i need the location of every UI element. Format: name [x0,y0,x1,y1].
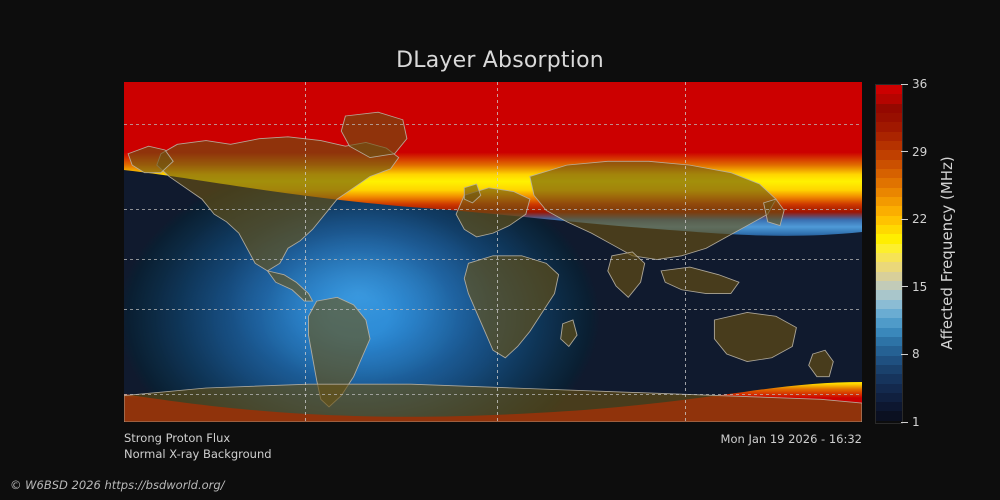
colorbar-tick: 1 [901,416,920,428]
colorbar-segment [876,122,902,131]
colorbar-segment [876,94,902,103]
colorbar-segment [876,309,902,318]
status-xray-background: Normal X-ray Background [124,446,272,462]
colorbar-tick-mark [901,84,908,85]
timestamp: Mon Jan 19 2026 - 16:32 [721,432,862,446]
colorbar-tick-label: 29 [912,146,927,158]
colorbar-segment [876,393,902,402]
colorbar-tick: 15 [901,281,927,293]
colorbar-segment [876,197,902,206]
colorbar-tick-label: 36 [912,78,927,90]
colorbar-segment [876,113,902,122]
status-block: Strong Proton Flux Normal X-ray Backgrou… [124,430,272,462]
colorbar-tick-mark [901,219,908,220]
colorbar-segment [876,365,902,374]
colorbar-segment [876,262,902,271]
colorbar-segment [876,85,902,94]
colorbar-segment [876,104,902,113]
colorbar-tick: 29 [901,146,927,158]
colorbar-segment [876,132,902,141]
colorbar-segment [876,225,902,234]
colorbar-segment [876,384,902,393]
colorbar-segment [876,253,902,262]
colorbar-segment [876,411,902,420]
colorbar-tick-mark [901,354,908,355]
colorbar-tick-label: 1 [912,416,920,428]
colorbar-segment [876,356,902,365]
colorbar-label-text: Affected Frequency (MHz) [938,156,956,350]
colorbar-tick: 22 [901,213,927,225]
colorbar-segment [876,402,902,411]
absorption-map[interactable] [124,82,862,422]
colorbar-segment [876,178,902,187]
colorbar-segment [876,328,902,337]
colorbar-segment [876,160,902,169]
colorbar-segment [876,234,902,243]
colorbar-tick: 8 [901,348,920,360]
colorbar-segment [876,150,902,159]
colorbar-ticks: 1815222936 [901,84,941,422]
colorbar-segment [876,188,902,197]
status-proton-flux: Strong Proton Flux [124,430,272,446]
colorbar-segment [876,300,902,309]
colorbar-tick: 36 [901,78,927,90]
colorbar[interactable] [875,84,903,424]
colorbar-segment [876,244,902,253]
colorbar-tick-mark [901,151,908,152]
colorbar-segment [876,318,902,327]
colorbar-segment [876,374,902,383]
colorbar-tick-label: 15 [912,281,927,293]
page-title: DLayer Absorption [0,48,1000,73]
colorbar-tick-mark [901,422,908,423]
colorbar-segment [876,169,902,178]
colorbar-segment [876,141,902,150]
colorbar-segment [876,346,902,355]
map-gridlines [124,82,862,422]
colorbar-tick-mark [901,286,908,287]
colorbar-tick-label: 22 [912,213,927,225]
colorbar-segment [876,206,902,215]
colorbar-segment [876,272,902,281]
colorbar-segment [876,337,902,346]
colorbar-segment [876,290,902,299]
colorbar-axis-label: Affected Frequency (MHz) [936,84,958,422]
copyright-notice: © W6BSD 2026 https://bsdworld.org/ [10,478,225,492]
colorbar-segment [876,281,902,290]
colorbar-segment [876,216,902,225]
colorbar-tick-label: 8 [912,348,920,360]
